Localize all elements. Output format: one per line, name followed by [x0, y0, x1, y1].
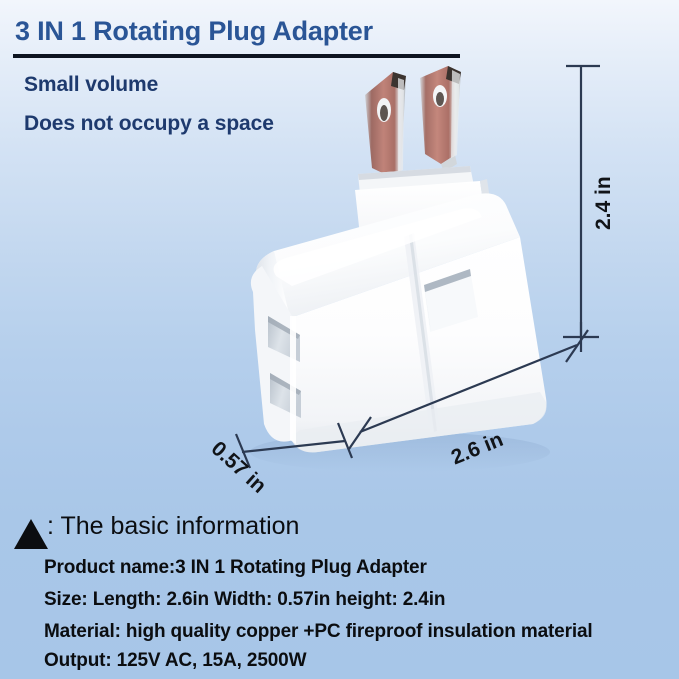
title-divider [13, 54, 460, 58]
info-line-product-name: Product name:3 IN 1 Rotating Plug Adapte… [44, 557, 427, 579]
feature-text-0: Small volume [24, 73, 158, 97]
plug-prongs [358, 66, 474, 194]
info-line-output: Output: 125V AC, 15A, 2500W [44, 650, 306, 672]
basic-information-heading: : The basic information [47, 512, 299, 541]
feature-text-1: Does not occupy a space [24, 112, 274, 136]
width-dim-line [242, 441, 345, 452]
page-title: 3 IN 1 Rotating Plug Adapter [15, 16, 373, 47]
dimension-label-width: 0.57 in [206, 437, 271, 499]
adapter-body [251, 193, 547, 452]
hinge-recess [424, 269, 478, 332]
infographic-page: 3 IN 1 Rotating Plug Adapter Small volum… [0, 0, 679, 679]
info-line-material: Material: high quality copper +PC firepr… [44, 621, 593, 643]
triangle-icon [14, 519, 48, 549]
info-line-size: Size: Length: 2.6in Width: 0.57in height… [44, 589, 445, 611]
dimension-label-height: 2.4 in [592, 176, 616, 230]
hinge-collar [355, 181, 489, 254]
dimension-label-length: 2.6 in [448, 428, 507, 470]
length-dim-line [360, 345, 577, 432]
outlet-slots [268, 316, 301, 418]
